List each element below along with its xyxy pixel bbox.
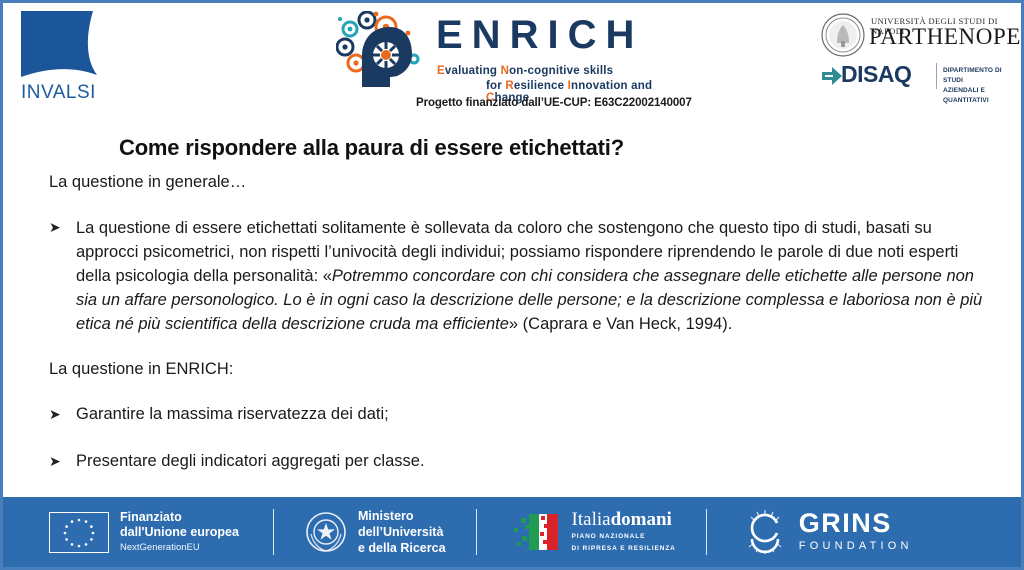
disaq-wordmark: DISAQ: [841, 63, 911, 86]
lead-enrich: La questione in ENRICH:: [49, 360, 233, 379]
bullet-item-2: ➤Presentare degli indicatori aggregati p…: [49, 452, 425, 471]
italiadomani-wordmark: Italiadomani: [572, 510, 676, 530]
disaq-logo: DISAQ DIPARTIMENTO DI STUDI AZIENDALI E …: [809, 61, 1007, 95]
italian-republic-emblem-icon: [304, 510, 348, 554]
italiadomani-text: Italiadomani PIANO NAZIONALE DI RIPRESA …: [572, 510, 676, 553]
footer-divider-1: [273, 509, 274, 555]
enrich-tagline-line1: Evaluating Non-cognitive skills: [437, 65, 613, 77]
eu-line2: dall'Unione europea: [120, 525, 239, 541]
invalsi-logo: INVALSI: [19, 11, 107, 109]
parthenope-logo: UNIVERSITÀ DEGLI STUDI DI NAPOLI PARTHEN…: [809, 11, 1007, 103]
parthenope-name: PARTHENOPE: [869, 25, 1021, 48]
mur-text: Ministero dell’Università e della Ricerc…: [358, 508, 446, 556]
footer-divider-3: [706, 509, 707, 555]
tagline-n: N: [501, 65, 510, 77]
eu-line1: Finanziato: [120, 510, 239, 526]
bullet-label-1: Garantire la massima riservatezza dei da…: [76, 405, 389, 423]
eu-flag-icon: [49, 512, 109, 553]
italiadomani-word-a: Italia: [572, 509, 611, 530]
grins-subtitle: FOUNDATION: [799, 539, 913, 553]
disaq-subtitle: DIPARTIMENTO DI STUDI AZIENDALI E QUANTI…: [943, 66, 1009, 106]
paragraph-text: La questione di essere etichettati solit…: [76, 217, 984, 337]
mur-line2: dell’Università: [358, 524, 446, 540]
tagline-esilience: esilience: [514, 80, 568, 92]
grins-logo: GRINS FOUNDATION: [743, 497, 913, 567]
tagline-nnovation: nnovation and: [571, 80, 652, 92]
arrow-bullet-icon: ➤: [49, 453, 76, 470]
parthenope-crest-icon: [821, 13, 865, 57]
grins-text: GRINS FOUNDATION: [799, 510, 913, 553]
lead-general: La questione in generale…: [49, 173, 246, 192]
disaq-arrow-icon: [821, 65, 843, 87]
slide-footer: Finanziato dall'Unione europea NextGener…: [3, 497, 1021, 567]
eu-stars: [50, 513, 108, 552]
italiadomani-sub-line1: PIANO NAZIONALE: [572, 532, 676, 542]
eu-line3: NextGenerationEU: [120, 541, 239, 554]
mur-line3: e della Ricerca: [358, 540, 446, 556]
enrich-wordmark: ENRICH: [436, 15, 643, 55]
footer-divider-2: [476, 509, 477, 555]
slide-header: INVALSI: [3, 3, 1021, 115]
paragraph-part2: » (Caprara e Van Heck, 1994).: [509, 315, 732, 333]
tagline-valuating: valuating: [445, 65, 501, 77]
tagline-for: for: [486, 80, 505, 92]
grins-mark-icon: [743, 509, 787, 555]
tagline-noncog: on-cognitive skills: [509, 65, 613, 77]
mur-line1: Ministero: [358, 508, 446, 524]
grins-wordmark: GRINS: [799, 510, 913, 537]
bullet-item-1: ➤Garantire la massima riservatezza dei d…: [49, 405, 389, 424]
italian-flag-pixels: [511, 512, 563, 552]
arrow-bullet-icon: ➤: [49, 406, 76, 423]
main-paragraph: ➤ La questione di essere etichettati sol…: [49, 217, 984, 337]
slide: INVALSI: [0, 0, 1024, 570]
mur-logo: Ministero dell’Università e della Ricerc…: [304, 497, 446, 567]
page-title: Come rispondere alla paura di essere eti…: [119, 135, 624, 161]
enrich-funding-code: Progetto finanziato dall’UE-CUP: E63C220…: [416, 97, 692, 109]
bullet-label-2: Presentare degli indicatori aggregati pe…: [76, 452, 425, 470]
eu-funding-text: Finanziato dall'Unione europea NextGener…: [120, 510, 239, 555]
slide-body: Come rispondere alla paura di essere eti…: [3, 115, 1021, 497]
disaq-divider: [936, 63, 937, 89]
tagline-r: R: [505, 80, 514, 92]
enrich-logo: ENRICH Evaluating Non-cognitive skills f…: [336, 9, 696, 113]
arrow-bullet-icon: ➤: [49, 217, 61, 237]
head-silhouette-icon: [356, 23, 428, 91]
disaq-subtitle-line2: AZIENDALI E QUANTITATIVI: [943, 86, 1009, 106]
italiadomani-word-b: domani: [611, 509, 672, 530]
italiadomani-logo: Italiadomani PIANO NAZIONALE DI RIPRESA …: [511, 497, 676, 567]
italiadomani-sub-line2: DI RIPRESA E RESILIENZA: [572, 544, 676, 554]
tagline-e: E: [437, 65, 445, 77]
italian-flag-icon: [511, 512, 563, 552]
eu-funding-logo: Finanziato dall'Unione europea NextGener…: [49, 497, 239, 567]
disaq-subtitle-line1: DIPARTIMENTO DI STUDI: [943, 66, 1009, 86]
invalsi-flag-icon: [21, 11, 97, 83]
invalsi-wordmark: INVALSI: [21, 83, 105, 102]
